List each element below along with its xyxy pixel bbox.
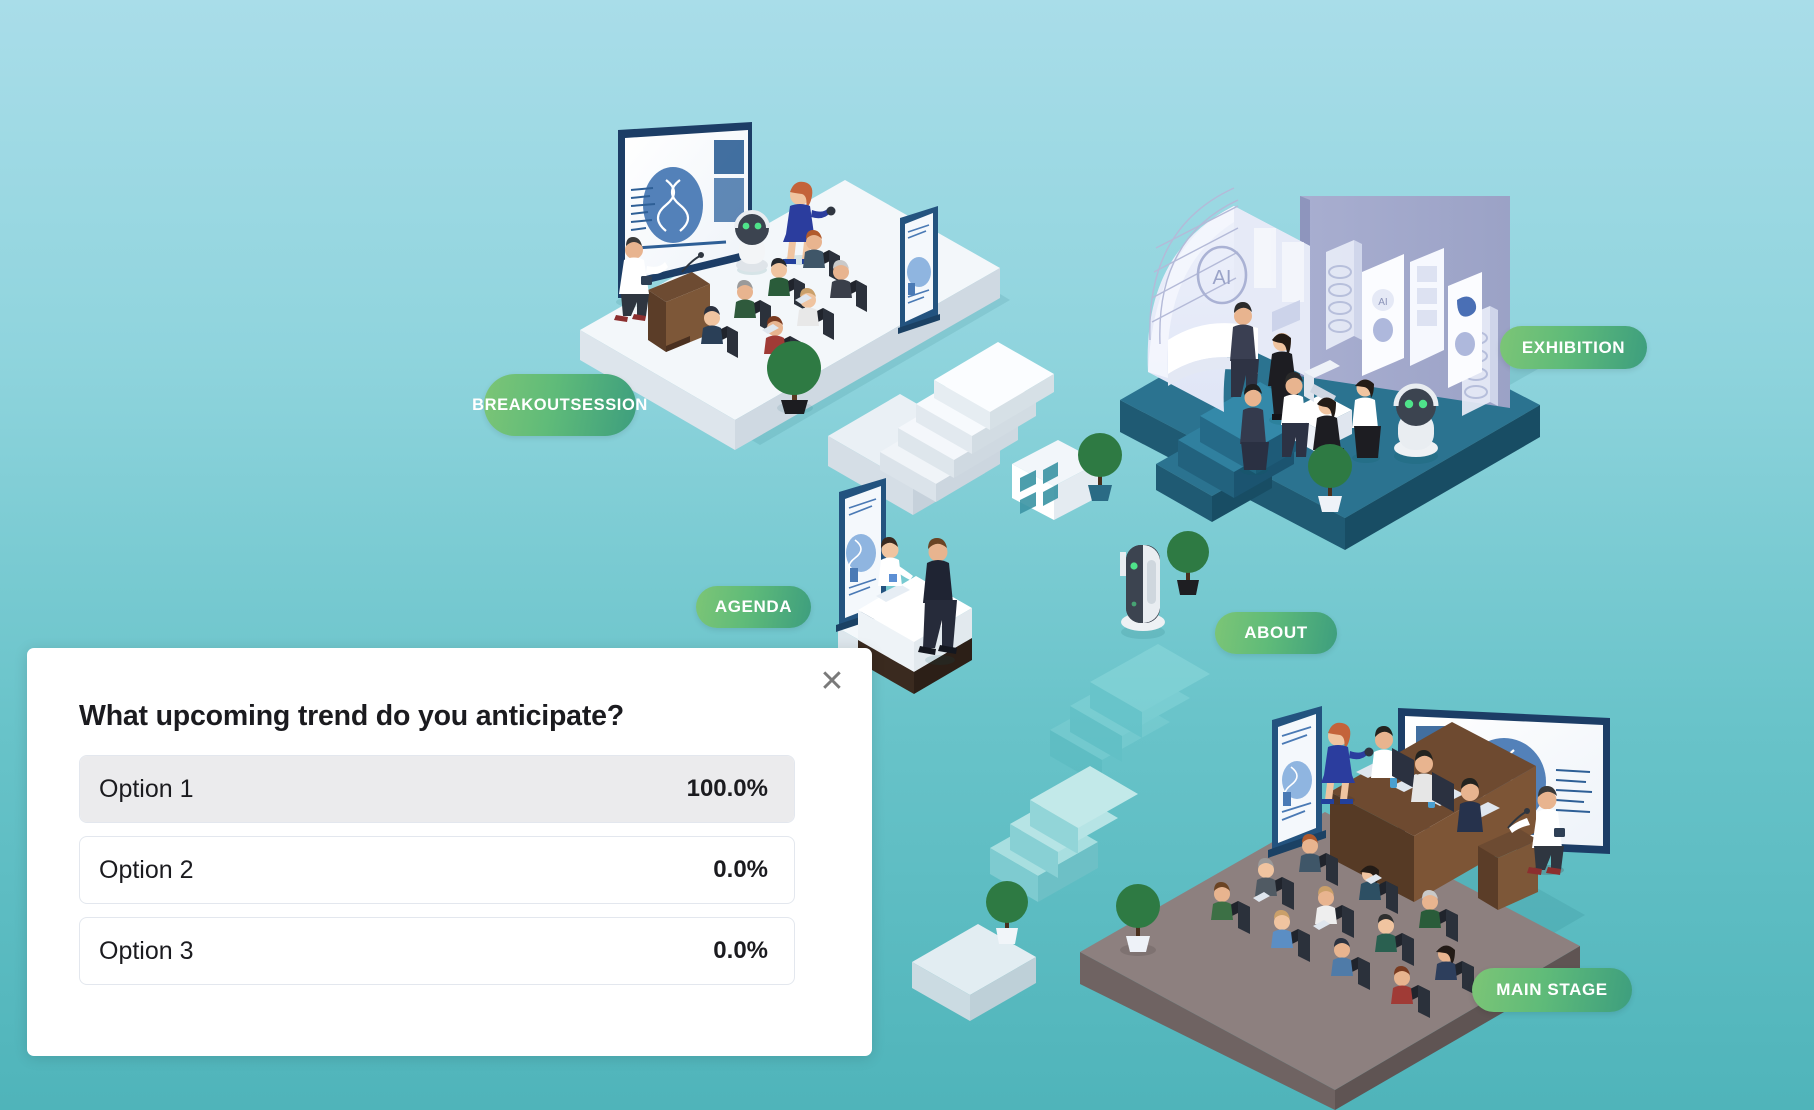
about-robot [1120,545,1165,639]
svg-text:AI: AI [1213,267,1232,289]
poll-option-label: Option 3 [99,937,713,966]
poll-option-label: Option 1 [99,775,687,804]
poll-options-list: Option 1100.0%Option 20.0%Option 30.0% [79,755,795,985]
poll-question: What upcoming trend do you anticipate? [79,700,799,733]
poll-option-percent: 0.0% [713,856,768,884]
badge-main-stage-label: MAIN STAGE [1496,980,1607,1000]
badge-agenda[interactable]: AGENDA [696,586,811,628]
badge-breakout-session-line2: SESSION [570,396,648,415]
poll-option-row[interactable]: Option 20.0% [79,836,795,904]
badge-main-stage[interactable]: MAIN STAGE [1472,968,1632,1012]
poll-option-row[interactable]: Option 1100.0% [79,755,795,823]
poll-option-label: Option 2 [99,856,713,885]
badge-agenda-label: AGENDA [715,597,792,617]
badge-breakout-session[interactable]: BREAKOUT SESSION [484,374,636,436]
badge-breakout-session-line1: BREAKOUT [472,396,570,415]
badge-exhibition-label: EXHIBITION [1522,338,1625,358]
poll-option-percent: 100.0% [687,775,768,803]
svg-text:AI: AI [1378,297,1387,308]
badge-about[interactable]: ABOUT [1215,612,1337,654]
close-icon[interactable]: ✕ [810,660,854,704]
poll-option-row[interactable]: Option 30.0% [79,917,795,985]
badge-about-label: ABOUT [1244,623,1307,643]
poll-option-percent: 0.0% [713,937,768,965]
badge-exhibition[interactable]: EXHIBITION [1500,326,1647,369]
